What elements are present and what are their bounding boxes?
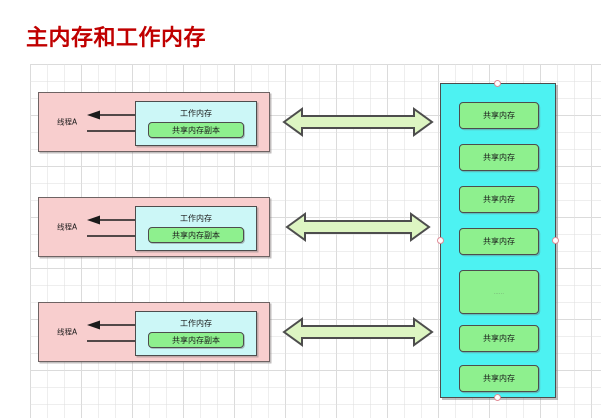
main-memory-box[interactable]: 共享内存 共享内存 共享内存 共享内存 ...... 共享内存 共享内存 [440, 83, 556, 398]
resize-handle-bottom[interactable] [494, 394, 501, 401]
shared-memory-cell[interactable]: 共享内存 [459, 144, 539, 171]
resize-handle-left[interactable] [437, 237, 444, 244]
thread-label: 线程A [57, 327, 77, 338]
thread-label: 线程A [57, 117, 77, 128]
shared-memory-cell[interactable]: 共享内存 [459, 228, 539, 255]
shared-memory-copy[interactable]: 共享内存副本 [148, 122, 244, 138]
shared-memory-copy[interactable]: 共享内存副本 [148, 332, 244, 348]
shared-memory-cell[interactable]: 共享内存 [459, 102, 539, 129]
thread-label: 线程A [57, 222, 77, 233]
thread-box[interactable]: 线程A 工作内存 共享内存副本 [38, 302, 270, 362]
double-arrow-connector[interactable] [284, 316, 432, 348]
working-memory-title: 工作内存 [136, 108, 256, 119]
shared-memory-cell-ellipsis[interactable]: ...... [459, 270, 539, 314]
working-memory-box[interactable]: 工作内存 共享内存副本 [135, 206, 257, 251]
working-memory-title: 工作内存 [136, 213, 256, 224]
shared-memory-copy[interactable]: 共享内存副本 [148, 227, 244, 243]
shared-memory-cell[interactable]: 共享内存 [459, 186, 539, 213]
double-arrow-connector[interactable] [287, 211, 429, 243]
shared-memory-cell[interactable]: 共享内存 [459, 325, 539, 352]
thread-box[interactable]: 线程A 工作内存 共享内存副本 [38, 92, 270, 152]
working-memory-box[interactable]: 工作内存 共享内存副本 [135, 311, 257, 356]
double-arrow-connector[interactable] [284, 106, 432, 138]
working-memory-box[interactable]: 工作内存 共享内存副本 [135, 101, 257, 146]
shared-memory-cell[interactable]: 共享内存 [459, 365, 539, 392]
page-title: 主内存和工作内存 [26, 20, 206, 52]
resize-handle-top[interactable] [494, 80, 501, 87]
thread-box[interactable]: 线程A 工作内存 共享内存副本 [38, 197, 270, 257]
working-memory-title: 工作内存 [136, 318, 256, 329]
resize-handle-right[interactable] [552, 237, 559, 244]
diagram-canvas[interactable]: 主内存和工作内存 线程A 工作内存 共享内存副本 线程A 工作内存 [0, 0, 601, 418]
